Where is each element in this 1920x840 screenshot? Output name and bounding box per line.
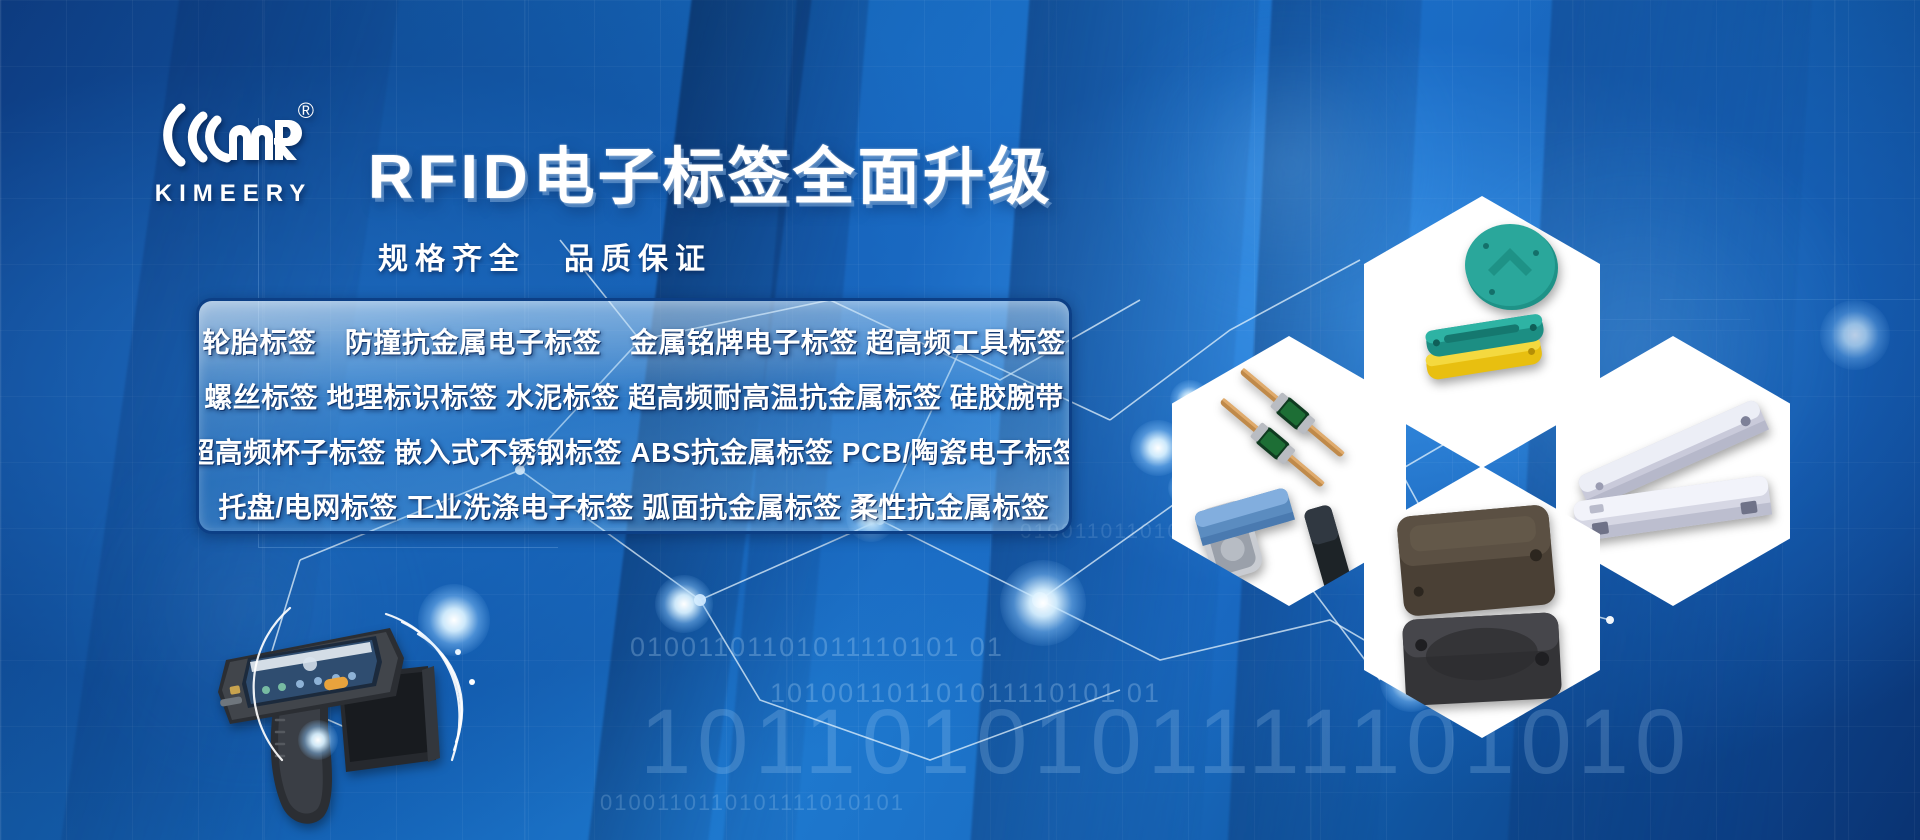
product-tag-list-panel: 轮胎标签 防撞抗金属电子标签 金属铭牌电子标签 超高频工具标签 螺丝标签 地理标…: [196, 298, 1072, 534]
page-title-cjk: 电子标签全面升级: [533, 143, 1053, 212]
brand-wordmark: KIMEERY: [140, 180, 320, 208]
rfid-promo-banner: 01001101101011110101 01 1010011011010111…: [0, 0, 1920, 840]
page-subtitle: 规格齐全品质保证: [378, 234, 712, 278]
page-title: RFID电子标签全面升级: [368, 126, 1053, 216]
product-hexagon-cluster: [1148, 178, 1788, 648]
background-sparkle: [655, 575, 713, 633]
background-sparkle: [1000, 560, 1086, 646]
subtitle-left: 规格齐全: [378, 243, 526, 276]
registered-trademark-icon: ®: [298, 100, 314, 122]
tag-list-row: 轮胎标签 防撞抗金属电子标签 金属铭牌电子标签 超高频工具标签: [215, 313, 1053, 368]
tag-list-row: 螺丝标签 地理标识标签 水泥标签 超高频耐高温抗金属标签 硅胶腕带: [215, 368, 1053, 423]
background-sparkle: [1820, 300, 1890, 370]
brand-logo: ® KIMEERY: [140, 98, 320, 208]
reader-signal-sparkle: [298, 720, 338, 760]
subtitle-right: 品质保证: [564, 243, 712, 276]
kimeery-signal-wave-logo-icon: ®: [140, 98, 320, 176]
tag-list-row: 超高频杯子标签 嵌入式不锈钢标签 ABS抗金属标签 PCB/陶瓷电子标签: [215, 423, 1053, 478]
reader-signal-sparkle: [418, 584, 490, 656]
handheld-uhf-rfid-reader: [190, 600, 510, 840]
page-title-latin: RFID: [368, 143, 533, 212]
tag-list-row: 托盘/电网标签 工业洗涤电子标签 弧面抗金属标签 柔性抗金属标签: [215, 478, 1053, 533]
